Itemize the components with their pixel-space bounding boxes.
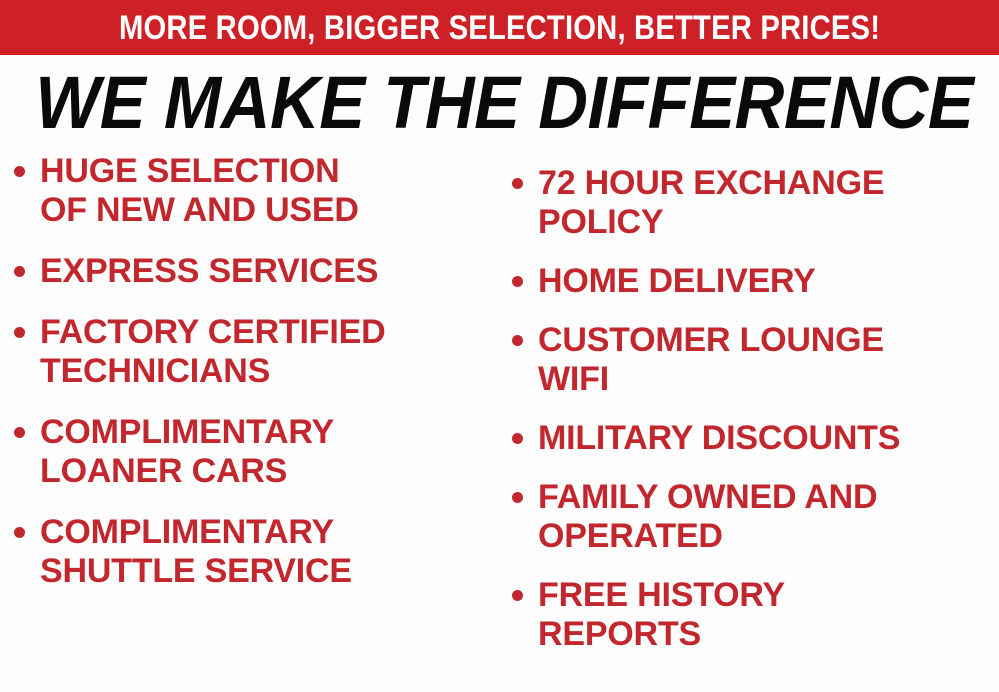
benefit-item: MILITARY DISCOUNTS (512, 419, 999, 458)
benefit-item: COMPLIMENTARY SHUTTLE SERVICE (14, 513, 500, 591)
benefit-item: FAMILY OWNED AND OPERATED (512, 478, 999, 556)
benefit-item-label: EXPRESS SERVICES (40, 252, 378, 291)
top-banner: MORE ROOM, BIGGER SELECTION, BETTER PRIC… (0, 0, 999, 55)
benefits-columns: HUGE SELECTION OF NEW AND USEDEXPRESS SE… (0, 152, 999, 692)
benefit-item-label: FAMILY OWNED AND OPERATED (538, 478, 877, 556)
bullet-dot-icon (512, 433, 523, 444)
benefit-item-label: MILITARY DISCOUNTS (538, 419, 900, 458)
benefit-item: CUSTOMER LOUNGE WIFI (512, 321, 999, 399)
benefit-item-label: 72 HOUR EXCHANGE POLICY (538, 164, 884, 242)
benefit-item-label: CUSTOMER LOUNGE WIFI (538, 321, 884, 399)
bullet-dot-icon (512, 276, 523, 287)
benefit-item-label: HUGE SELECTION OF NEW AND USED (40, 152, 359, 230)
benefit-item: FREE HISTORY REPORTS (512, 576, 999, 654)
bullet-dot-icon (14, 427, 25, 438)
page-title: WE MAKE THE DIFFERENCE (35, 66, 973, 140)
benefit-item: COMPLIMENTARY LOANER CARS (14, 413, 500, 491)
bullet-dot-icon (512, 335, 523, 346)
bullet-dot-icon (14, 527, 25, 538)
benefit-item-label: COMPLIMENTARY LOANER CARS (40, 413, 334, 491)
benefit-item: HOME DELIVERY (512, 262, 999, 301)
benefit-item: FACTORY CERTIFIED TECHNICIANS (14, 313, 500, 391)
banner-headline: MORE ROOM, BIGGER SELECTION, BETTER PRIC… (119, 11, 880, 45)
bullet-dot-icon (14, 166, 25, 177)
bullet-dot-icon (512, 178, 523, 189)
benefits-column-right: 72 HOUR EXCHANGE POLICYHOME DELIVERYCUST… (512, 152, 999, 674)
bullet-dot-icon (14, 266, 25, 277)
headline-container: WE MAKE THE DIFFERENCE (0, 66, 999, 140)
bullet-dot-icon (14, 327, 25, 338)
benefit-item-label: HOME DELIVERY (538, 262, 816, 301)
benefit-item-label: FACTORY CERTIFIED TECHNICIANS (40, 313, 385, 391)
bullet-dot-icon (512, 590, 523, 601)
bullet-dot-icon (512, 492, 523, 503)
benefit-item-label: COMPLIMENTARY SHUTTLE SERVICE (40, 513, 352, 591)
benefit-item: 72 HOUR EXCHANGE POLICY (512, 164, 999, 242)
benefit-item: HUGE SELECTION OF NEW AND USED (14, 152, 500, 230)
promo-poster: MORE ROOM, BIGGER SELECTION, BETTER PRIC… (0, 0, 999, 692)
benefit-item: EXPRESS SERVICES (14, 252, 500, 291)
benefits-column-left: HUGE SELECTION OF NEW AND USEDEXPRESS SE… (14, 152, 500, 613)
benefit-item-label: FREE HISTORY REPORTS (538, 576, 785, 654)
